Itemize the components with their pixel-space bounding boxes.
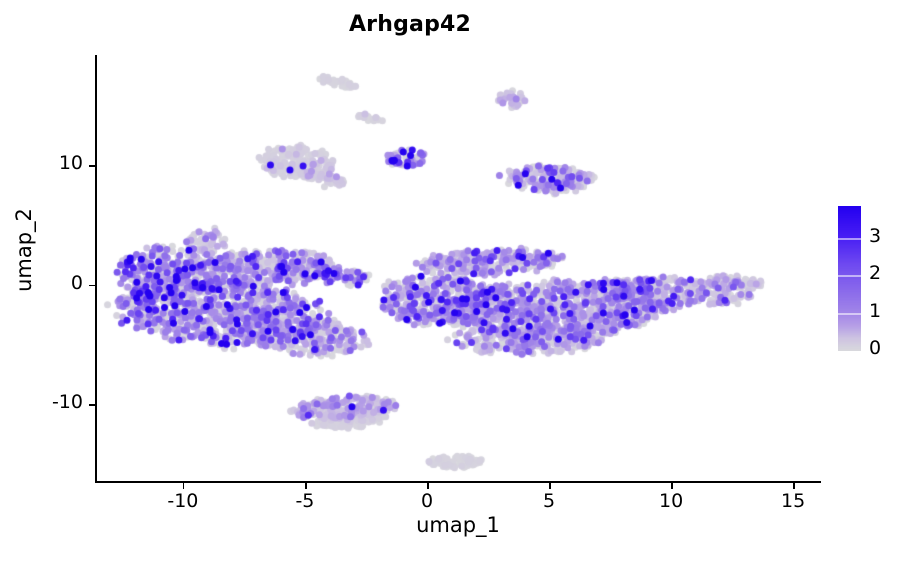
colorbar-legend: 0123 <box>838 206 910 354</box>
plot-area <box>95 55 820 482</box>
x-tick-mark <box>793 483 795 489</box>
x-tick-label: 15 <box>758 490 828 512</box>
x-tick-label: 0 <box>392 490 462 512</box>
colorbar-tick-label: 3 <box>869 225 881 247</box>
x-tick-mark <box>549 483 551 489</box>
x-tick-mark <box>427 483 429 489</box>
y-axis-label: umap_2 <box>12 160 36 340</box>
x-axis-spine <box>95 481 821 483</box>
scatter-points-layer <box>95 55 820 482</box>
x-tick-mark <box>305 483 307 489</box>
y-tick-mark <box>89 404 95 406</box>
colorbar-tick-label: 2 <box>869 262 881 284</box>
x-tick-mark <box>183 483 185 489</box>
y-tick-mark <box>89 165 95 167</box>
colorbar-tick-label: 0 <box>869 337 881 359</box>
colorbar-tick-mark <box>838 313 861 315</box>
y-tick-label: -10 <box>0 391 83 413</box>
colorbar-tick-label: 1 <box>869 300 881 322</box>
x-tick-label: 10 <box>636 490 706 512</box>
x-tick-label: -10 <box>148 490 218 512</box>
colorbar-tick-mark <box>838 275 861 277</box>
colorbar-tick-mark <box>838 238 861 240</box>
x-tick-label: -5 <box>270 490 340 512</box>
x-tick-label: 5 <box>514 490 584 512</box>
x-tick-mark <box>671 483 673 489</box>
umap-feature-plot: Arhgap42 -10-5051015 100-10 umap_1 umap_… <box>0 0 911 562</box>
y-tick-mark <box>89 285 95 287</box>
page-title: Arhgap42 <box>0 12 820 37</box>
colorbar-gradient <box>838 206 861 351</box>
y-axis-spine <box>95 55 97 483</box>
x-axis-label: umap_1 <box>95 513 821 537</box>
